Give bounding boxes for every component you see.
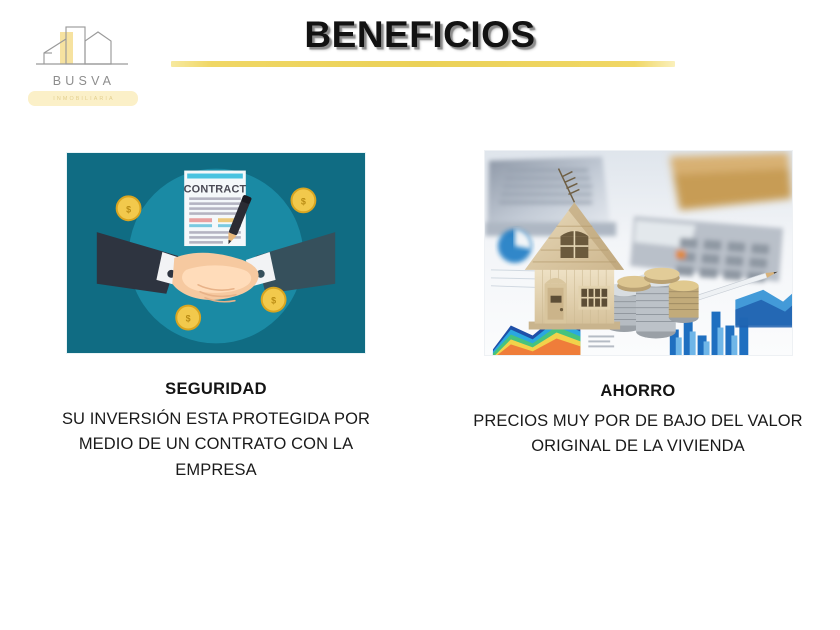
- caption-ahorro: AHORRO PRECIOS MUY POR DE BAJO DEL VALOR…: [462, 382, 814, 460]
- slide-canvas: BUSVA INMOBILIARIA BENEFICIOS CONTRACT: [0, 0, 840, 630]
- caption-body: SU INVERSIÓN ESTA PROTEGIDA POR MEDIO DE…: [40, 407, 392, 484]
- svg-text:$: $: [126, 204, 131, 214]
- handshake-contract-illustration-svg: CONTRACT: [67, 153, 365, 353]
- caption-body: PRECIOS MUY POR DE BAJO DEL VALOR ORIGIN…: [462, 409, 814, 460]
- caption-seguridad: SEGURIDAD SU INVERSIÓN ESTA PROTEGIDA PO…: [40, 380, 392, 483]
- house-model-coins-calculator-photo-svg: [485, 151, 792, 355]
- caption-title: SEGURIDAD: [40, 380, 392, 400]
- brand-logo: BUSVA INMOBILIARIA: [22, 24, 142, 112]
- benefit-card-seguridad: CONTRACT: [40, 150, 392, 483]
- house-model-coins-calculator-photo: [484, 150, 793, 356]
- building-outline-logo-svg: [30, 24, 134, 74]
- logo-wordmark: BUSVA: [22, 74, 142, 88]
- svg-text:$: $: [301, 196, 306, 206]
- logo-tagline-band: INMOBILIARIA: [28, 91, 138, 106]
- svg-text:CONTRACT: CONTRACT: [184, 183, 247, 195]
- caption-title: AHORRO: [462, 382, 814, 402]
- logo-tagline: INMOBILIARIA: [51, 96, 114, 102]
- handshake-contract-illustration: CONTRACT: [66, 152, 366, 354]
- benefit-card-ahorro: AHORRO PRECIOS MUY POR DE BAJO DEL VALOR…: [462, 150, 814, 460]
- page-title: BENEFICIOS: [170, 14, 670, 56]
- title-underline-rule: [171, 61, 675, 67]
- building-outline-logo-icon: [30, 24, 134, 74]
- svg-text:$: $: [186, 314, 191, 324]
- svg-text:$: $: [271, 296, 276, 306]
